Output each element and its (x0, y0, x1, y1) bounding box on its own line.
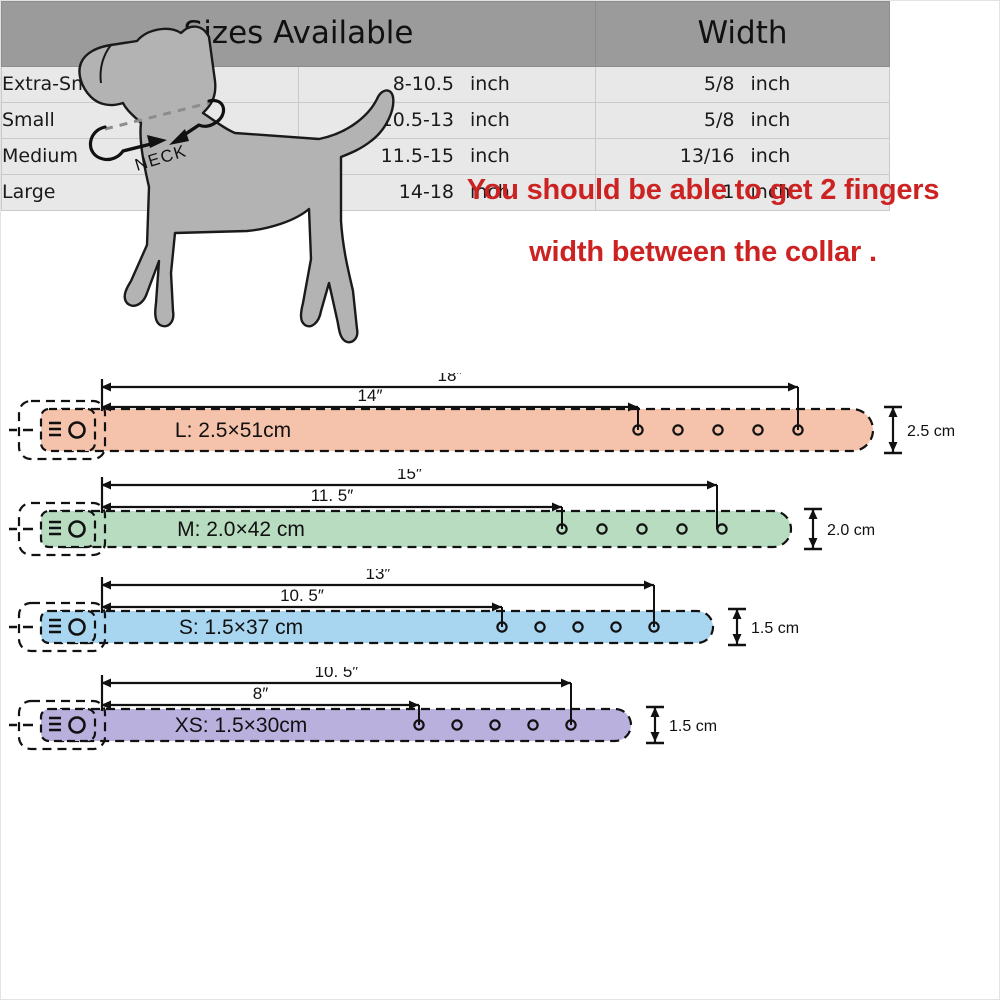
dim-label-outer-large: 18″ (438, 373, 463, 385)
dim-label-outer-small: 13″ (366, 569, 391, 583)
collar-diagram-small: 13″10. 5″S: 1.5×37 cm1.5 cm (1, 569, 1000, 669)
dim-label-inner-small: 10. 5″ (280, 586, 324, 605)
headline-line-1: You should be able to get 2 fingers (467, 174, 940, 206)
collar-size-label-xsmall: XS: 1.5×30cm (175, 714, 308, 737)
collar-size-label-medium: M: 2.0×42 cm (177, 518, 305, 541)
dim-label-inner-medium: 11. 5″ (311, 486, 354, 505)
collar-strap-medium (61, 511, 791, 547)
collar-width-label-xsmall: 1.5 cm (669, 718, 717, 735)
collar-strap-small (61, 611, 713, 643)
collar-row-large: 18″14″L: 2.5×51cm2.5 cm (1, 373, 1000, 473)
collar-diagram-xsmall: 10. 5″8″XS: 1.5×30cm1.5 cm (1, 667, 1000, 767)
collar-row-xsmall: 10. 5″8″XS: 1.5×30cm1.5 cm (1, 667, 1000, 767)
collar-row-small: 13″10. 5″S: 1.5×37 cm1.5 cm (1, 569, 1000, 669)
neck-loop-left-arc (90, 127, 123, 160)
headline-line-2: width between the collar . (419, 221, 987, 283)
collar-diagram-medium: 15″11. 5″M: 2.0×42 cm2.0 cm (1, 469, 1000, 569)
collar-size-label-small: S: 1.5×37 cm (179, 616, 303, 639)
collar-size-label-large: L: 2.5×51cm (175, 419, 291, 442)
collar-row-medium: 15″11. 5″M: 2.0×42 cm2.0 cm (1, 469, 1000, 569)
collar-strap-xsmall (61, 709, 631, 741)
collar-diagram-large: 18″14″L: 2.5×51cm2.5 cm (1, 373, 1000, 473)
collar-width-label-large: 2.5 cm (907, 423, 955, 440)
size-chart-page: NECK You should be able to get 2 fingers… (0, 0, 1000, 1000)
dog-body-shape (79, 27, 393, 343)
cell-width: 5/8inch (596, 67, 890, 103)
dog-illustration: NECK (19, 11, 439, 361)
cell-width: 5/8inch (596, 103, 890, 139)
collar-width-label-small: 1.5 cm (751, 620, 799, 637)
dim-label-outer-medium: 15″ (397, 469, 422, 483)
dog-silhouette-svg: NECK (19, 11, 439, 361)
dim-label-inner-large: 14″ (358, 386, 383, 405)
headline-text: You should be able to get 2 fingers widt… (419, 159, 987, 283)
header-width: Width (596, 2, 890, 67)
dim-label-outer-xsmall: 10. 5″ (315, 667, 359, 681)
dim-label-inner-xsmall: 8″ (253, 684, 268, 703)
collar-width-label-medium: 2.0 cm (827, 522, 875, 539)
